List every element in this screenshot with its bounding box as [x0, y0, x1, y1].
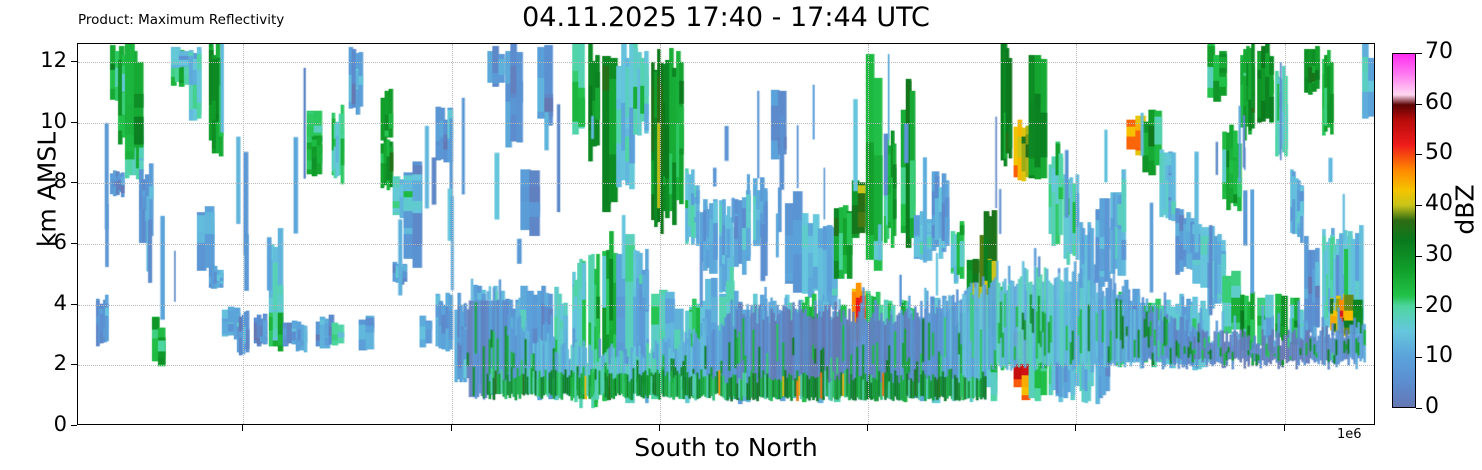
y-tick-label: 10	[40, 109, 67, 133]
colorbar-gradient	[1392, 53, 1416, 408]
y-tick-label: 6	[54, 230, 67, 254]
colorbar-tick-mark	[1416, 53, 1422, 54]
x-axis-label: South to North	[77, 433, 1375, 462]
y-tick-label: 4	[54, 291, 67, 315]
y-tick-mark	[71, 304, 77, 305]
colorbar-tick-label: 40	[1425, 191, 1453, 216]
x-tick-mark	[867, 425, 868, 431]
y-tick-mark	[71, 182, 77, 183]
y-tick-mark	[71, 61, 77, 62]
radar-cross-section-figure: Product: Maximum Reflectivity 04.11.2025…	[0, 0, 1482, 470]
y-tick-label: 8	[54, 169, 67, 193]
colorbar-tick-mark	[1416, 154, 1422, 155]
colorbar-tick-mark	[1416, 408, 1422, 409]
colorbar-tick-mark	[1416, 256, 1422, 257]
colorbar-tick-mark	[1416, 104, 1422, 105]
colorbar-tick-label: 20	[1425, 293, 1453, 318]
plot-area	[77, 43, 1375, 425]
x-tick-mark	[659, 425, 660, 431]
y-tick-mark	[71, 425, 77, 426]
x-axis-offset-text: 1e6	[1337, 427, 1362, 442]
y-tick-label: 12	[40, 48, 67, 72]
reflectivity-heatmap-canvas	[78, 44, 1374, 424]
colorbar-tick-label: 10	[1425, 343, 1453, 368]
x-tick-mark	[451, 425, 452, 431]
colorbar	[1392, 53, 1416, 408]
x-tick-mark	[242, 425, 243, 431]
colorbar-tick-label: 60	[1425, 90, 1453, 115]
y-tick-mark	[71, 122, 77, 123]
colorbar-tick-label: 70	[1425, 39, 1453, 64]
colorbar-tick-label: 30	[1425, 242, 1453, 267]
y-tick-label: 0	[54, 412, 67, 436]
x-tick-mark	[1075, 425, 1076, 431]
colorbar-tick-mark	[1416, 357, 1422, 358]
x-tick-mark	[1284, 425, 1285, 431]
y-tick-mark	[71, 364, 77, 365]
colorbar-tick-mark	[1416, 205, 1422, 206]
y-tick-mark	[71, 243, 77, 244]
colorbar-tick-label: 50	[1425, 140, 1453, 165]
colorbar-tick-mark	[1416, 307, 1422, 308]
colorbar-tick-label: 0	[1425, 394, 1439, 419]
colorbar-label: dBZ	[1451, 145, 1480, 275]
y-tick-label: 2	[54, 351, 67, 375]
page-title: 04.11.2025 17:40 - 17:44 UTC	[77, 2, 1375, 33]
